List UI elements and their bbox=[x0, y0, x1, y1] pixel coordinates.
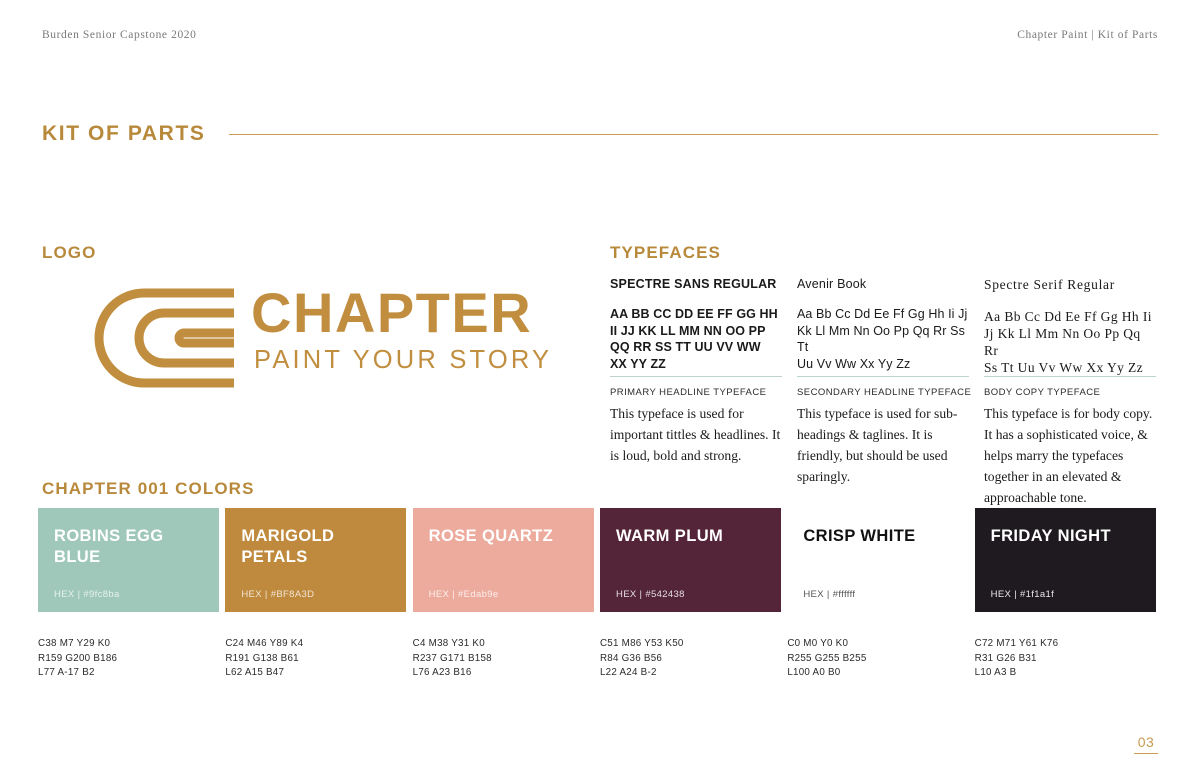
color-name: CRISP WHITE bbox=[803, 526, 952, 547]
typeface-role-label: BODY COPY TYPEFACE bbox=[984, 387, 1100, 398]
page-title: KIT OF PARTS bbox=[42, 122, 205, 146]
typeface-name: Avenir Book bbox=[797, 277, 969, 291]
color-rgb: R84 G36 B56 bbox=[600, 652, 787, 667]
color-rgb: R255 G255 B255 bbox=[787, 652, 974, 667]
color-hex-label: HEX | #ffffff bbox=[803, 589, 855, 600]
section-heading-typefaces: TYPEFACES bbox=[610, 243, 721, 263]
alphabet-line: XX YY ZZ bbox=[610, 356, 782, 373]
color-value-block: C4 M38 Y31 K0 R237 G171 B158 L76 A23 B16 bbox=[413, 637, 600, 681]
alphabet-line: Ss Tt Uu Vv Ww Xx Yy Zz bbox=[984, 359, 1156, 376]
color-hex-label: HEX | #1f1a1f bbox=[991, 589, 1055, 600]
typeface-alphabet-sample: AA BB CC DD EE FF GG HH II JJ KK LL MM N… bbox=[610, 306, 782, 372]
section-heading-colors: CHAPTER 001 COLORS bbox=[42, 479, 255, 499]
typeface-description: This typeface is used for sub-headings &… bbox=[797, 403, 971, 487]
color-lab: L77 A-17 B2 bbox=[38, 666, 225, 681]
alphabet-line: Uu Vv Ww Xx Yy Zz bbox=[797, 356, 969, 373]
color-hex-label: HEX | #542438 bbox=[616, 589, 685, 600]
color-cmyk: C51 M86 Y53 K50 bbox=[600, 637, 787, 652]
typeface-role-label: SECONDARY HEADLINE TYPEFACE bbox=[797, 387, 971, 398]
page-title-row: KIT OF PARTS bbox=[42, 122, 1158, 146]
typeface-name: Spectre Serif Regular bbox=[984, 277, 1156, 293]
section-heading-logo: LOGO bbox=[42, 243, 96, 263]
color-swatch-cell: FRIDAY NIGHT HEX | #1f1a1f C72 M71 Y61 K… bbox=[975, 508, 1162, 681]
page-number-group: 03 bbox=[1134, 734, 1158, 754]
color-swatch: ROBINS EGG BLUE HEX | #9fc8ba bbox=[38, 508, 219, 612]
logo-lockup: CHAPTER PAINT YOUR STORY bbox=[88, 283, 548, 393]
title-divider-rule bbox=[229, 134, 1158, 135]
logo-wordmark-group: CHAPTER PAINT YOUR STORY bbox=[251, 283, 551, 377]
typeface-alphabet-sample: Aa Bb Cc Dd Ee Ff Gg Hh Ii Jj Kk Ll Mm N… bbox=[797, 306, 969, 372]
color-value-block: C0 M0 Y0 K0 R255 G255 B255 L100 A0 B0 bbox=[787, 637, 974, 681]
color-lab: L76 A23 B16 bbox=[413, 666, 600, 681]
concentric-c-arcs-icon bbox=[88, 285, 238, 396]
color-rgb: R237 G171 B158 bbox=[413, 652, 600, 667]
color-rgb: R159 G200 B186 bbox=[38, 652, 225, 667]
typeface-description: This typeface is used for important titt… bbox=[610, 403, 784, 466]
color-name: ROSE QUARTZ bbox=[429, 526, 578, 547]
color-name: FRIDAY NIGHT bbox=[991, 526, 1140, 547]
color-name: MARIGOLD PETALS bbox=[241, 526, 390, 568]
alphabet-line: AA BB CC DD EE FF GG HH bbox=[610, 306, 782, 323]
color-cmyk: C24 M46 Y89 K4 bbox=[225, 637, 412, 652]
typeface-divider bbox=[610, 376, 782, 377]
alphabet-line: Aa Bb Cc Dd Ee Ff Gg Hh Ii Jj bbox=[797, 306, 969, 323]
header-left-text: Burden Senior Capstone 2020 bbox=[42, 29, 197, 41]
color-hex-label: HEX | #9fc8ba bbox=[54, 589, 120, 600]
color-swatch: WARM PLUM HEX | #542438 bbox=[600, 508, 781, 612]
color-cmyk: C72 M71 Y61 K76 bbox=[975, 637, 1162, 652]
color-swatch-cell: ROBINS EGG BLUE HEX | #9fc8ba C38 M7 Y29… bbox=[38, 508, 225, 681]
color-lab: L10 A3 B bbox=[975, 666, 1162, 681]
color-lab: L22 A24 B-2 bbox=[600, 666, 787, 681]
logo-tagline: PAINT YOUR STORY bbox=[251, 343, 551, 377]
color-swatch: FRIDAY NIGHT HEX | #1f1a1f bbox=[975, 508, 1156, 612]
color-rgb: R191 G138 B61 bbox=[225, 652, 412, 667]
brand-guide-page: Burden Senior Capstone 2020 Chapter Pain… bbox=[0, 0, 1200, 776]
color-rgb: R31 G26 B31 bbox=[975, 652, 1162, 667]
color-value-block: C51 M86 Y53 K50 R84 G36 B56 L22 A24 B-2 bbox=[600, 637, 787, 681]
typeface-column-body: Spectre Serif Regular Aa Bb Cc Dd Ee Ff … bbox=[984, 277, 1156, 376]
logo-wordmark: CHAPTER bbox=[251, 283, 551, 343]
color-swatch: MARIGOLD PETALS HEX | #BF8A3D bbox=[225, 508, 406, 612]
typeface-column-primary: SPECTRE SANS REGULAR AA BB CC DD EE FF G… bbox=[610, 277, 782, 372]
typeface-role-label: PRIMARY HEADLINE TYPEFACE bbox=[610, 387, 766, 398]
color-hex-label: HEX | #BF8A3D bbox=[241, 589, 314, 600]
color-swatch: ROSE QUARTZ HEX | #Edab9e bbox=[413, 508, 594, 612]
color-swatch-cell: MARIGOLD PETALS HEX | #BF8A3D C24 M46 Y8… bbox=[225, 508, 412, 681]
color-name: ROBINS EGG BLUE bbox=[54, 526, 203, 568]
color-cmyk: C38 M7 Y29 K0 bbox=[38, 637, 225, 652]
color-value-block: C24 M46 Y89 K4 R191 G138 B61 L62 A15 B47 bbox=[225, 637, 412, 681]
color-cmyk: C4 M38 Y31 K0 bbox=[413, 637, 600, 652]
color-swatch-cell: CRISP WHITE HEX | #ffffff C0 M0 Y0 K0 R2… bbox=[787, 508, 974, 681]
color-hex-label: HEX | #Edab9e bbox=[429, 589, 499, 600]
header-right-text: Chapter Paint | Kit of Parts bbox=[1017, 29, 1158, 41]
typeface-name: SPECTRE SANS REGULAR bbox=[610, 277, 782, 291]
alphabet-line: II JJ KK LL MM NN OO PP bbox=[610, 323, 782, 340]
color-name: WARM PLUM bbox=[616, 526, 765, 547]
color-swatch-row: ROBINS EGG BLUE HEX | #9fc8ba C38 M7 Y29… bbox=[38, 508, 1162, 681]
typeface-divider bbox=[984, 376, 1156, 377]
color-cmyk: C0 M0 Y0 K0 bbox=[787, 637, 974, 652]
color-swatch-cell: ROSE QUARTZ HEX | #Edab9e C4 M38 Y31 K0 … bbox=[413, 508, 600, 681]
alphabet-line: QQ RR SS TT UU VV WW bbox=[610, 339, 782, 356]
color-lab: L62 A15 B47 bbox=[225, 666, 412, 681]
color-swatch: CRISP WHITE HEX | #ffffff bbox=[787, 508, 968, 612]
alphabet-line: Kk Ll Mm Nn Oo Pp Qq Rr Ss Tt bbox=[797, 323, 969, 356]
typeface-column-secondary: Avenir Book Aa Bb Cc Dd Ee Ff Gg Hh Ii J… bbox=[797, 277, 969, 372]
typeface-alphabet-sample: Aa Bb Cc Dd Ee Ff Gg Hh Ii Jj Kk Ll Mm N… bbox=[984, 308, 1156, 376]
color-value-block: C38 M7 Y29 K0 R159 G200 B186 L77 A-17 B2 bbox=[38, 637, 225, 681]
color-lab: L100 A0 B0 bbox=[787, 666, 974, 681]
color-value-block: C72 M71 Y61 K76 R31 G26 B31 L10 A3 B bbox=[975, 637, 1162, 681]
typeface-divider bbox=[797, 376, 969, 377]
typeface-description: This typeface is for body copy. It has a… bbox=[984, 403, 1158, 508]
color-swatch-cell: WARM PLUM HEX | #542438 C51 M86 Y53 K50 … bbox=[600, 508, 787, 681]
alphabet-line: Aa Bb Cc Dd Ee Ff Gg Hh Ii bbox=[984, 308, 1156, 325]
alphabet-line: Jj Kk Ll Mm Nn Oo Pp Qq Rr bbox=[984, 325, 1156, 359]
page-number: 03 bbox=[1134, 734, 1158, 750]
page-number-rule bbox=[1134, 753, 1158, 754]
